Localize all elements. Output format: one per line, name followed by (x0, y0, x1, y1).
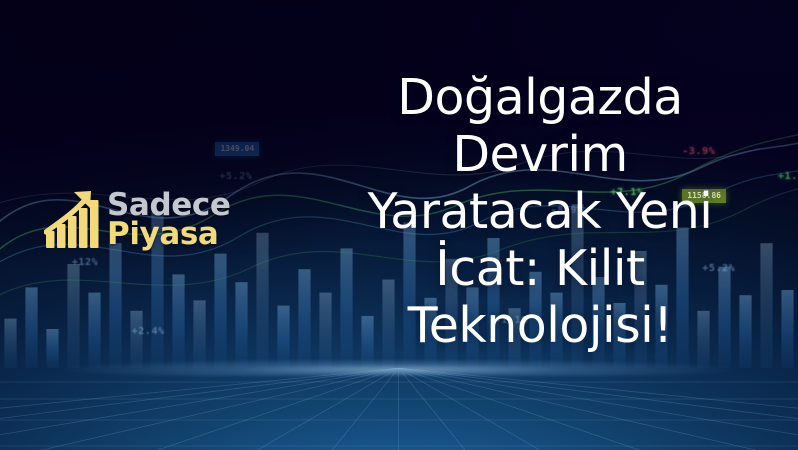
brand-name-bottom: Piyasa (107, 220, 230, 249)
headline-line-4: İcat: Kilit (282, 240, 798, 297)
promo-banner: +5.2%+5.2%+7.1%-3.9%-8.9%+1.3%+12%-1.1%+… (0, 0, 798, 450)
rising-bar-chart-arrow-icon (44, 187, 102, 249)
headline-line-3: Yaratacak Yeni (282, 183, 798, 240)
brand-logo[interactable]: Sadece Piyasa (44, 176, 224, 260)
headline-title: DoğalgazdaDevrimYaratacak Yeniİcat: Kili… (282, 69, 798, 354)
headline-line-1: Doğalgazda (282, 69, 798, 126)
brand-wordmark: Sadece Piyasa (107, 187, 230, 248)
headline-line-5: Teknolojisi! (282, 297, 798, 354)
headline-line-2: Devrim (282, 126, 798, 183)
